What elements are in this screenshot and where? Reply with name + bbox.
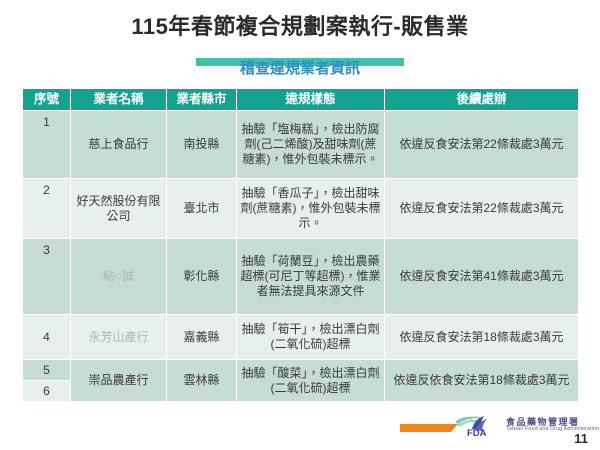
cell-no: 2: [23, 179, 71, 239]
table-row: 5 崇品農產行 雲林縣 抽驗「酸菜」，檢出漂白劑(二氧化硫)超標 依違反依食安法…: [23, 360, 579, 381]
table-row: 4 永芳山產行 嘉義縣 抽驗「筍干」，檢出漂白劑(二氧化硫)超標 依違反食安法第…: [23, 315, 579, 360]
table-header-cell-city: 業者縣市: [167, 89, 237, 111]
violation-table: 序號 業者名稱 業者縣市 違規樣態 後續處辦 1 慈上食品行 南投縣 抽驗「塩梅…: [22, 88, 579, 402]
table-row: 1 慈上食品行 南投縣 抽驗「塩梅糕」，檢出防腐劑(己二烯酸)及甜味劑(蔗糖素)…: [23, 111, 579, 179]
cell-city: 臺北市: [167, 179, 237, 239]
table-header-row: 序號 業者名稱 業者縣市 違規樣態 後續處辦: [23, 89, 579, 111]
table-row: 3 粘○誠 彰化縣 抽驗「荷蘭豆」，檢出農藥超標(可尼丁等超標)，惟業者無法提具…: [23, 239, 579, 315]
cell-name: 永芳山產行: [71, 315, 167, 360]
page-number: 11: [574, 431, 588, 446]
fda-logo: FDA 食品藥物管理署 Taiwan Food and Drug Adminis…: [452, 414, 587, 438]
cell-violation: 抽驗「筍干」，檢出漂白劑(二氧化硫)超標: [237, 315, 385, 360]
cell-action: 依違反依食安法第18條裁處3萬元: [385, 360, 579, 402]
table-header-cell-action: 後續處辦: [385, 89, 579, 111]
table-header-cell-name: 業者名稱: [71, 89, 167, 111]
table-header: 序號 業者名稱 業者縣市 違規樣態 後續處辦: [23, 89, 579, 111]
cell-no: 5: [23, 360, 71, 381]
cell-no: 6: [23, 381, 71, 402]
cell-action: 依違反食安法第18條裁處3萬元: [385, 315, 579, 360]
subtitle: 稽查違規業者資訊: [0, 59, 600, 79]
orange-accent-bar-icon: [400, 424, 458, 432]
subtitle-block: 稽查違規業者資訊: [0, 57, 600, 83]
table-row: 2 好天然股份有限公司 臺北市 抽驗「香瓜子」，檢出甜味劑(蔗糖素)，惟外包裝未…: [23, 179, 579, 239]
cell-name: 慈上食品行: [71, 111, 167, 179]
cell-city: 嘉義縣: [167, 315, 237, 360]
cell-violation: 抽驗「荷蘭豆」，檢出農藥超標(可尼丁等超標)，惟業者無法提具來源文件: [237, 239, 385, 315]
cell-violation: 抽驗「塩梅糕」，檢出防腐劑(己二烯酸)及甜味劑(蔗糖素)，惟外包裝未標示。: [237, 111, 385, 179]
cell-violation: 抽驗「香瓜子」，檢出甜味劑(蔗糖素)，惟外包裝未標示。: [237, 179, 385, 239]
svg-text:FDA: FDA: [467, 428, 487, 438]
cell-city: 彰化縣: [167, 239, 237, 315]
table-header-cell-viol: 違規樣態: [237, 89, 385, 111]
table-header-cell-no: 序號: [23, 89, 71, 111]
fda-emblem-icon: FDA: [452, 414, 502, 438]
cell-action: 依違反食安法第22條裁處3萬元: [385, 111, 579, 179]
cell-action: 依違反食安法第41條裁處3萬元: [385, 239, 579, 315]
cell-name: 好天然股份有限公司: [71, 179, 167, 239]
cell-city: 南投縣: [167, 111, 237, 179]
cell-no: 1: [23, 111, 71, 179]
cell-violation: 抽驗「酸菜」，檢出漂白劑(二氧化硫)超標: [237, 360, 385, 402]
cell-action: 依違反食安法第22條裁處3萬元: [385, 179, 579, 239]
cell-no: 3: [23, 239, 71, 315]
cell-name: 粘○誠: [71, 239, 167, 315]
slide-footer: FDA 食品藥物管理署 Taiwan Food and Drug Adminis…: [0, 402, 600, 450]
cell-city: 雲林縣: [167, 360, 237, 402]
cell-no: 4: [23, 315, 71, 360]
page-title: 115年春節複合規劃案執行-販售業: [0, 14, 600, 40]
cell-name: 崇品農產行: [71, 360, 167, 402]
table-body: 1 慈上食品行 南投縣 抽驗「塩梅糕」，檢出防腐劑(己二烯酸)及甜味劑(蔗糖素)…: [23, 111, 579, 402]
